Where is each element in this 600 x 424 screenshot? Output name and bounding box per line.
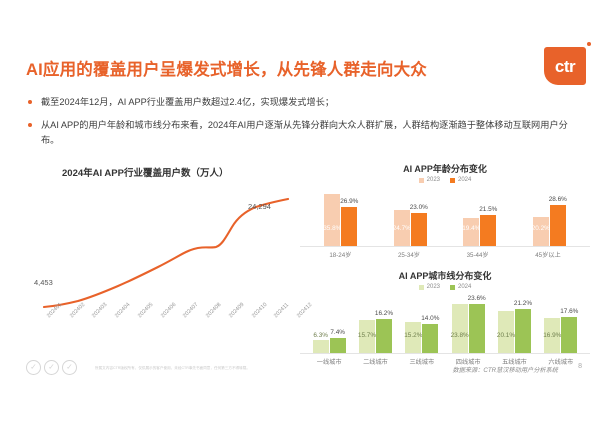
legend-item-2024: 2024 bbox=[450, 284, 471, 290]
bar: 23.6% bbox=[469, 304, 485, 353]
age-bar-chart: AI APP年龄分布变化 2023 2024 35.8%26.9%24.7%23… bbox=[300, 162, 590, 259]
bar-value-label: 23.8% bbox=[451, 332, 469, 339]
bar: 21.5% bbox=[480, 215, 496, 246]
legend-label-2024: 2024 bbox=[458, 284, 471, 290]
bullet-list: 截至2024年12月，AI APP行业覆盖用户数超过2.4亿，实现爆发式增长； … bbox=[28, 95, 573, 156]
line-end-value: 24,294 bbox=[248, 202, 271, 211]
bullet-item: 从AI APP的用户年龄和城市线分布来看，2024年AI用户逐渐从先锋分群向大众… bbox=[28, 118, 573, 147]
ctr-logo: ctr bbox=[544, 47, 586, 85]
bar-group: 20.2%28.6% bbox=[533, 205, 566, 246]
bar: 21.2% bbox=[515, 309, 531, 353]
check-badge-icon bbox=[62, 360, 77, 375]
bar-value-label: 21.5% bbox=[479, 206, 497, 213]
bar: 17.6% bbox=[561, 317, 577, 353]
bar: 20.1% bbox=[498, 311, 514, 353]
line-chart-plot: 4,453 24,294 202401202402202403202404202… bbox=[26, 185, 312, 335]
bar-value-label: 23.0% bbox=[410, 204, 428, 211]
legend-swatch-2024 bbox=[450, 285, 455, 290]
bar: 20.2% bbox=[533, 217, 549, 246]
city-chart-title: AI APP城市线分布变化 bbox=[300, 269, 590, 282]
bar-value-label: 20.1% bbox=[497, 332, 515, 339]
category-label: 25-34岁 bbox=[398, 250, 420, 259]
legend-label-2023: 2023 bbox=[427, 284, 440, 290]
bar: 16.9% bbox=[544, 318, 560, 353]
bar: 15.7% bbox=[359, 320, 375, 353]
bar-value-label: 24.7% bbox=[393, 225, 411, 232]
bar-group: 15.7%16.2% bbox=[359, 319, 392, 353]
bar: 6.3% bbox=[313, 340, 329, 353]
bar-value-label: 21.2% bbox=[514, 300, 532, 307]
bar-value-label: 17.6% bbox=[560, 308, 578, 315]
bar-value-label: 35.8% bbox=[323, 225, 341, 232]
bar: 23.8% bbox=[452, 304, 468, 353]
bar-group: 20.1%21.2% bbox=[498, 309, 531, 353]
city-chart-bars: 6.3%7.4%15.7%16.2%15.2%14.0%23.8%23.6%20… bbox=[300, 292, 590, 354]
bar-group: 19.4%21.5% bbox=[463, 215, 496, 246]
bar: 28.6% bbox=[550, 205, 566, 246]
bar: 14.0% bbox=[422, 324, 438, 353]
bar-value-label: 15.7% bbox=[358, 332, 376, 339]
bar-group: 23.8%23.6% bbox=[452, 304, 485, 353]
category-label: 三线城市 bbox=[409, 357, 434, 366]
bar-value-label: 23.6% bbox=[468, 295, 486, 302]
line-start-value: 4,453 bbox=[34, 278, 53, 287]
footer-badge-group bbox=[26, 360, 77, 375]
legend-item-2023: 2023 bbox=[419, 284, 440, 290]
bar-group: 35.8%26.9% bbox=[324, 194, 357, 246]
logo-registered-dot bbox=[587, 42, 591, 46]
city-chart-legend: 2023 2024 bbox=[300, 284, 590, 290]
bar: 7.4% bbox=[330, 338, 346, 353]
bar: 35.8% bbox=[324, 194, 340, 246]
page-number: 8 bbox=[578, 363, 582, 370]
bar-value-label: 19.4% bbox=[462, 225, 480, 232]
check-badge-icon bbox=[44, 360, 59, 375]
age-chart-categories: 18-24岁25-34岁35-44岁45岁以上 bbox=[300, 250, 590, 259]
bar-value-label: 14.0% bbox=[421, 315, 439, 322]
bar: 26.9% bbox=[341, 207, 357, 246]
category-label: 一线城市 bbox=[317, 357, 342, 366]
bar-value-label: 7.4% bbox=[330, 329, 345, 336]
page-title: AI应用的覆盖用户呈爆发式增长，从先锋人群走向大众 bbox=[26, 56, 427, 80]
copyright-note: 所属文内容CTR版权所有，仅供展示的客户使用，未经CTR事先书面同意，任何第三方… bbox=[95, 366, 305, 371]
city-bar-chart: AI APP城市线分布变化 2023 2024 6.3%7.4%15.7%16.… bbox=[300, 269, 590, 366]
bullet-item: 截至2024年12月，AI APP行业覆盖用户数超过2.4亿，实现爆发式增长； bbox=[28, 95, 573, 109]
ctr-logo-text: ctr bbox=[555, 58, 575, 75]
slide: ctr AI应用的覆盖用户呈爆发式增长，从先锋人群走向大众 截至2024年12月… bbox=[0, 0, 600, 424]
bar-value-label: 28.6% bbox=[549, 196, 567, 203]
bar-group: 15.2%14.0% bbox=[405, 322, 438, 353]
legend-label-2023: 2023 bbox=[427, 177, 440, 183]
legend-item-2024: 2024 bbox=[450, 177, 471, 183]
bar-value-label: 16.2% bbox=[375, 310, 393, 317]
bar-group: 6.3%7.4% bbox=[313, 338, 346, 353]
category-label: 18-24岁 bbox=[329, 250, 351, 259]
bar: 19.4% bbox=[463, 218, 479, 246]
bar-value-label: 15.2% bbox=[404, 332, 422, 339]
line-chart-xaxis: 2024012024022024032024042024052024062024… bbox=[44, 313, 312, 353]
age-chart-title: AI APP年龄分布变化 bbox=[300, 162, 590, 175]
bar: 24.7% bbox=[394, 210, 410, 246]
category-label: 35-44岁 bbox=[467, 250, 489, 259]
legend-item-2023: 2023 bbox=[419, 177, 440, 183]
bar: 23.0% bbox=[411, 213, 427, 246]
bar-value-label: 26.9% bbox=[340, 198, 358, 205]
bar: 15.2% bbox=[405, 322, 421, 353]
check-badge-icon bbox=[26, 360, 41, 375]
bar-group: 16.9%17.6% bbox=[544, 317, 577, 353]
bar: 16.2% bbox=[376, 319, 392, 353]
bar-group: 24.7%23.0% bbox=[394, 210, 427, 246]
legend-label-2024: 2024 bbox=[458, 177, 471, 183]
line-chart-title: 2024年AI APP行业覆盖用户数（万人） bbox=[62, 165, 316, 179]
category-label: 45岁以上 bbox=[535, 250, 560, 259]
bar-value-label: 6.3% bbox=[313, 332, 328, 339]
line-chart-panel: 2024年AI APP行业覆盖用户数（万人） 4,453 24,294 2024… bbox=[26, 165, 316, 355]
legend-swatch-2024 bbox=[450, 178, 455, 183]
data-source-label: 数据来源：CTR慧汉移动用户分析系统 bbox=[452, 365, 558, 374]
bar-charts-panel: AI APP年龄分布变化 2023 2024 35.8%26.9%24.7%23… bbox=[300, 162, 590, 366]
category-label: 二线城市 bbox=[363, 357, 388, 366]
legend-swatch-2023 bbox=[419, 178, 424, 183]
bar-value-label: 16.9% bbox=[543, 332, 561, 339]
bar-value-label: 20.2% bbox=[532, 225, 550, 232]
age-chart-legend: 2023 2024 bbox=[300, 177, 590, 183]
legend-swatch-2023 bbox=[419, 285, 424, 290]
age-chart-bars: 35.8%26.9%24.7%23.0%19.4%21.5%20.2%28.6% bbox=[300, 185, 590, 247]
